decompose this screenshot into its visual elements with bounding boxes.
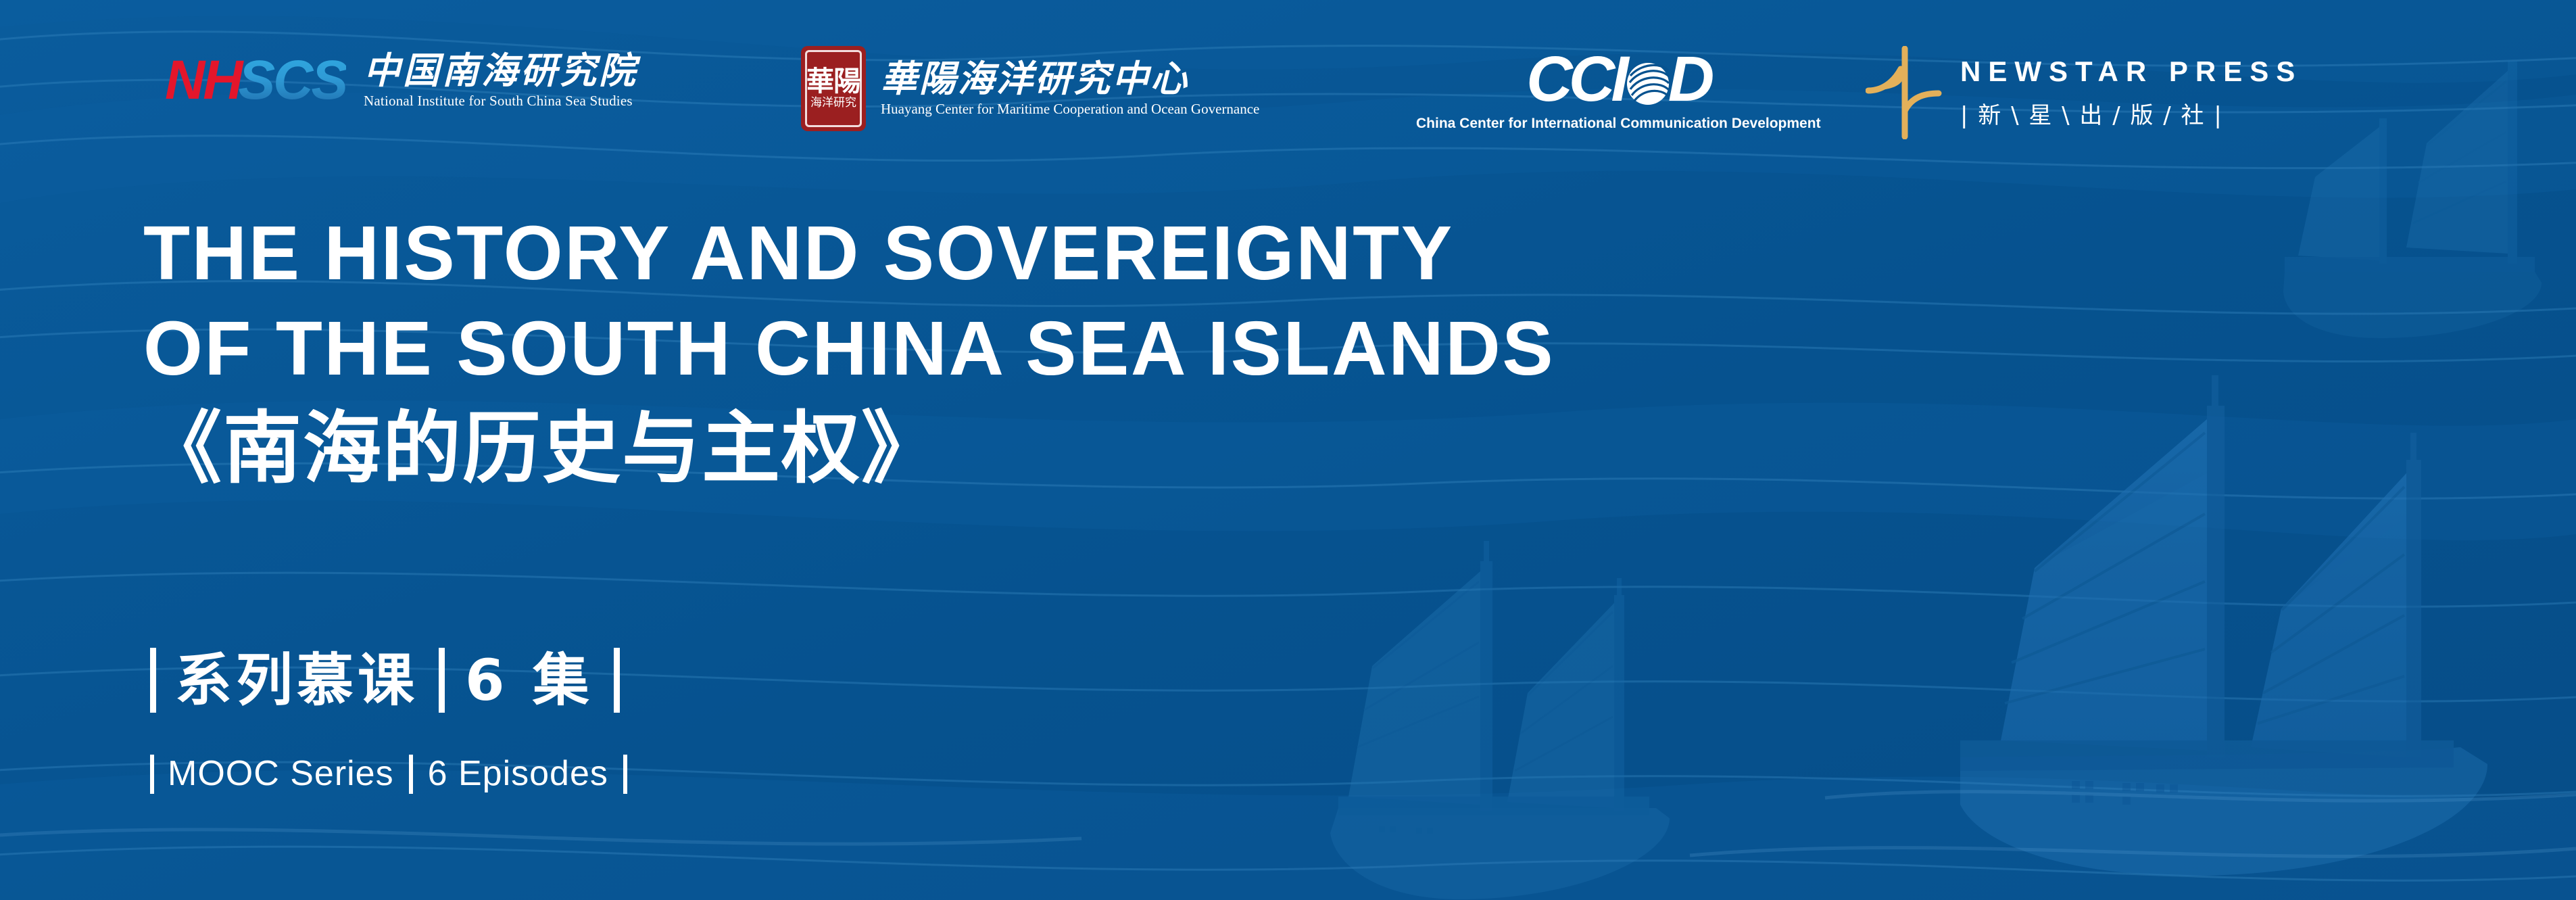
ccicd-english-name: China Center for International Communica… <box>1416 116 1821 132</box>
subtitle-english-row: MOOC Series 6 Episodes <box>150 755 627 794</box>
ccicd-wordmark-icon: CCI <box>1526 47 1710 112</box>
headline-chinese-title: 《南海的历史与主权》 <box>143 410 2171 488</box>
nhscs-scs-text: SCS <box>238 53 346 108</box>
subtitle-block: 系列慕课 6 集 MOOC Series 6 Episodes <box>150 648 627 794</box>
subtitle-english-series: MOOC Series <box>168 755 394 793</box>
huayang-english-name: Huayang Center for Maritime Cooperation … <box>881 101 1259 118</box>
logo-huayang: 華陽 海洋研究 華陽海洋研究中心 Huayang Center for Mari… <box>801 46 1259 131</box>
divider-bar-icon <box>150 755 154 794</box>
logo-ccicd: CCI <box>1416 47 1821 132</box>
nhscs-wordmark-icon: NHSCS <box>165 53 346 108</box>
divider-bar-icon <box>150 648 156 713</box>
junk-ship-medium <box>1330 541 1670 899</box>
subtitle-chinese-series: 系列慕课 <box>175 649 418 711</box>
newstar-star-icon <box>1866 46 1945 139</box>
divider-bar-icon <box>439 648 445 713</box>
newstar-chinese-name: | 新 \ 星 \ 出 / 版 / 社 | <box>1960 97 2302 130</box>
subtitle-english-episodes: 6 Episodes <box>428 755 608 793</box>
ccicd-globe-icon <box>1621 55 1671 105</box>
headline-block: THE HISTORY AND SOVEREIGNTY OF THE SOUTH… <box>143 215 2171 488</box>
divider-bar-icon <box>409 755 413 794</box>
headline-english-line2: OF THE SOUTH CHINA SEA ISLANDS <box>143 310 2171 387</box>
logo-newstar-press: NEWSTAR PRESS | 新 \ 星 \ 出 / 版 / 社 | <box>1866 46 2302 139</box>
nhscs-english-name: National Institute for South China Sea S… <box>364 93 638 110</box>
subtitle-chinese-row: 系列慕课 6 集 <box>150 648 627 713</box>
logo-row: NHSCS 中国南海研究院 National Institute for Sou… <box>0 46 2576 141</box>
ccicd-cci-text: CCI <box>1526 47 1625 112</box>
logo-nhscs: NHSCS 中国南海研究院 National Institute for Sou… <box>165 51 638 110</box>
huayang-seal-bottom-text: 海洋研究 <box>810 97 856 109</box>
huayang-seal-top-text: 華陽 <box>806 68 860 95</box>
banner-root: NHSCS 中国南海研究院 National Institute for Sou… <box>0 0 2576 900</box>
nhscs-chinese-name: 中国南海研究院 <box>364 51 638 90</box>
headline-english-line1: THE HISTORY AND SOVEREIGNTY <box>143 215 2171 291</box>
subtitle-chinese-episodes: 6 集 <box>465 649 593 711</box>
huayang-chinese-name: 華陽海洋研究中心 <box>881 60 1259 98</box>
nhscs-nh-text: NH <box>165 53 241 108</box>
newstar-english-name: NEWSTAR PRESS <box>1960 55 2302 88</box>
divider-bar-icon <box>623 755 627 794</box>
ccicd-d-text: D <box>1668 47 1711 112</box>
huayang-seal-icon: 華陽 海洋研究 <box>801 46 866 131</box>
divider-bar-icon <box>614 648 620 713</box>
